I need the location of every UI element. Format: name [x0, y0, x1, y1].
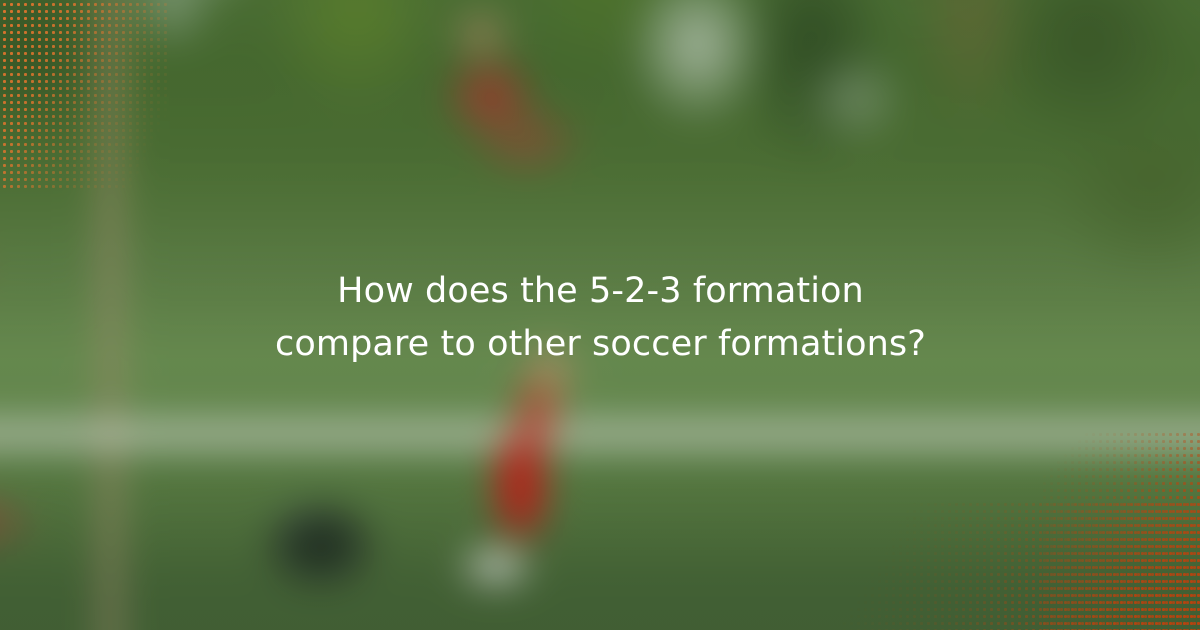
share-card: How does the 5-2-3 formation compare to …: [0, 0, 1200, 630]
question-banner: How does the 5-2-3 formation compare to …: [103, 198, 1098, 438]
question-title: How does the 5-2-3 formation compare to …: [221, 265, 981, 371]
